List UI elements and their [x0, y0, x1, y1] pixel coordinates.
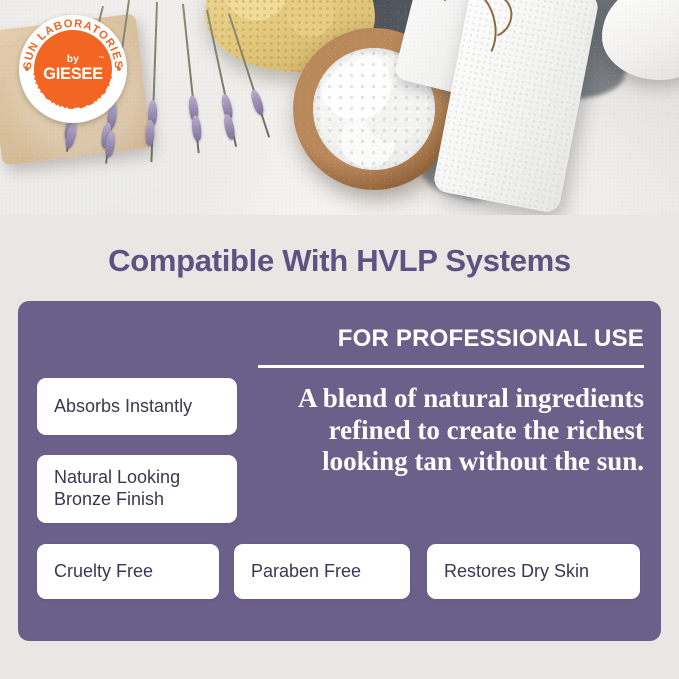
- trademark-icon: ™: [99, 57, 105, 63]
- feature-pill-restores-dry-skin: Restores Dry Skin: [427, 544, 640, 599]
- page-title: Compatible With HVLP Systems: [0, 243, 679, 279]
- brand-logo-badge: SUN LABORATORIES NATURAL BEAUTY by GIESE…: [19, 15, 127, 123]
- heading-divider: [258, 365, 644, 368]
- logo-brand-name: GIESEE: [43, 66, 103, 83]
- feature-pill-paraben-free: Paraben Free: [234, 544, 410, 599]
- feature-pill-label-line-2: Bronze Finish: [54, 489, 180, 511]
- logo-by-label: by: [67, 55, 79, 65]
- product-description: A blend of natural ingredients refined t…: [252, 383, 644, 478]
- professional-use-heading: FOR PROFESSIONAL USE: [258, 325, 644, 353]
- logo-inner-disc: by GIESEE ™: [34, 30, 112, 108]
- feature-pill-cruelty-free: Cruelty Free: [37, 544, 219, 599]
- feature-pill-label: Cruelty Free: [54, 561, 153, 583]
- feature-pill-natural-looking-bronze-finish: Natural Looking Bronze Finish: [37, 455, 237, 523]
- feature-pill-absorbs-instantly: Absorbs Instantly: [37, 378, 237, 435]
- feature-pill-label: Absorbs Instantly: [54, 396, 192, 418]
- feature-pill-label-line-1: Natural Looking: [54, 467, 180, 489]
- feature-pill-label: Paraben Free: [251, 561, 361, 583]
- feature-pill-label: Restores Dry Skin: [444, 561, 589, 583]
